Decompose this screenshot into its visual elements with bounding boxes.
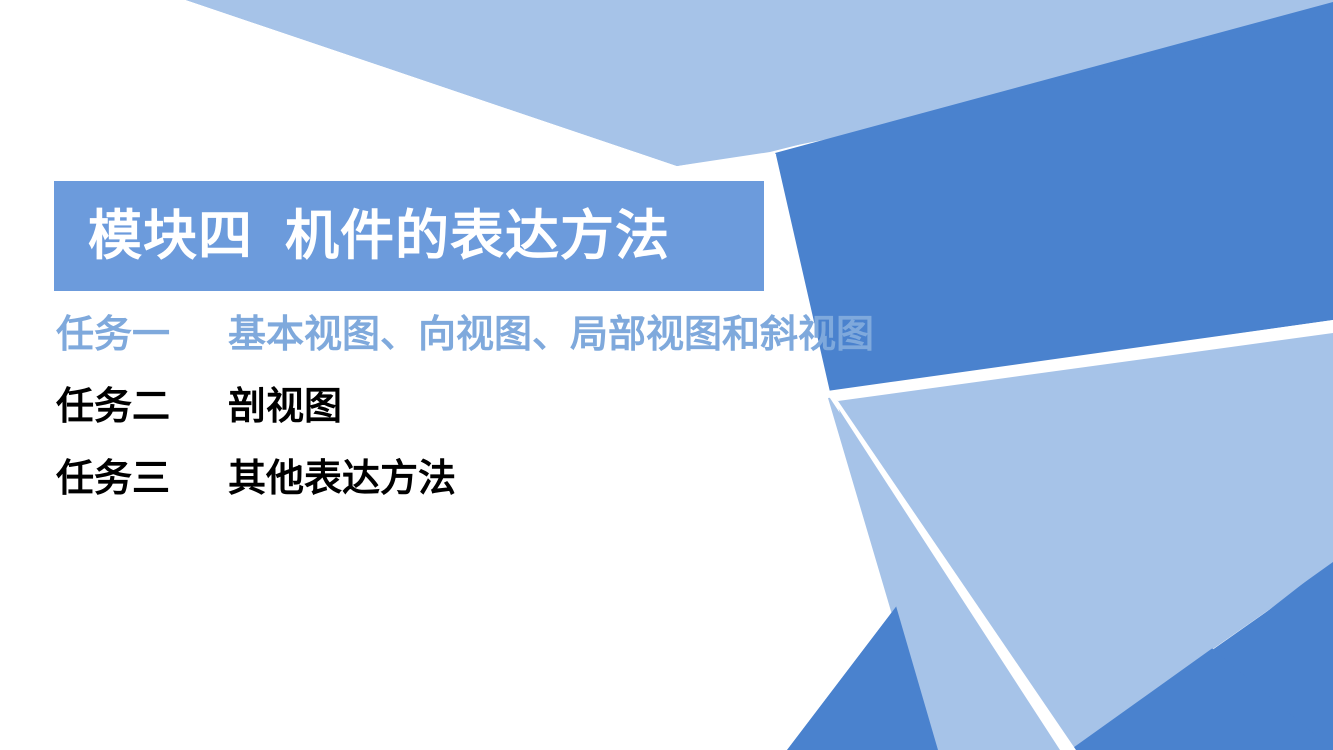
- task-title: 基本视图、向视图、局部视图和斜视图: [228, 316, 874, 354]
- page-title: 模块四 机件的表达方法: [88, 209, 670, 263]
- task-title: 其他表达方法: [228, 460, 456, 498]
- slide-content: 模块四 机件的表达方法 任务一 基本视图、向视图、局部视图和斜视图 任务二 剖视…: [0, 0, 1333, 750]
- task-list: 任务一 基本视图、向视图、局部视图和斜视图 任务二 剖视图 任务三 其他表达方法: [56, 316, 1056, 532]
- task-label: 任务二: [56, 388, 228, 426]
- task-row[interactable]: 任务三 其他表达方法: [56, 460, 1056, 532]
- task-label: 任务三: [56, 460, 228, 498]
- presentation-slide: 模块四 机件的表达方法 任务一 基本视图、向视图、局部视图和斜视图 任务二 剖视…: [0, 0, 1333, 750]
- task-title: 剖视图: [228, 388, 342, 426]
- task-row[interactable]: 任务二 剖视图: [56, 388, 1056, 460]
- task-row[interactable]: 任务一 基本视图、向视图、局部视图和斜视图: [56, 316, 1056, 388]
- task-label: 任务一: [56, 316, 228, 354]
- title-banner: 模块四 机件的表达方法: [54, 181, 764, 291]
